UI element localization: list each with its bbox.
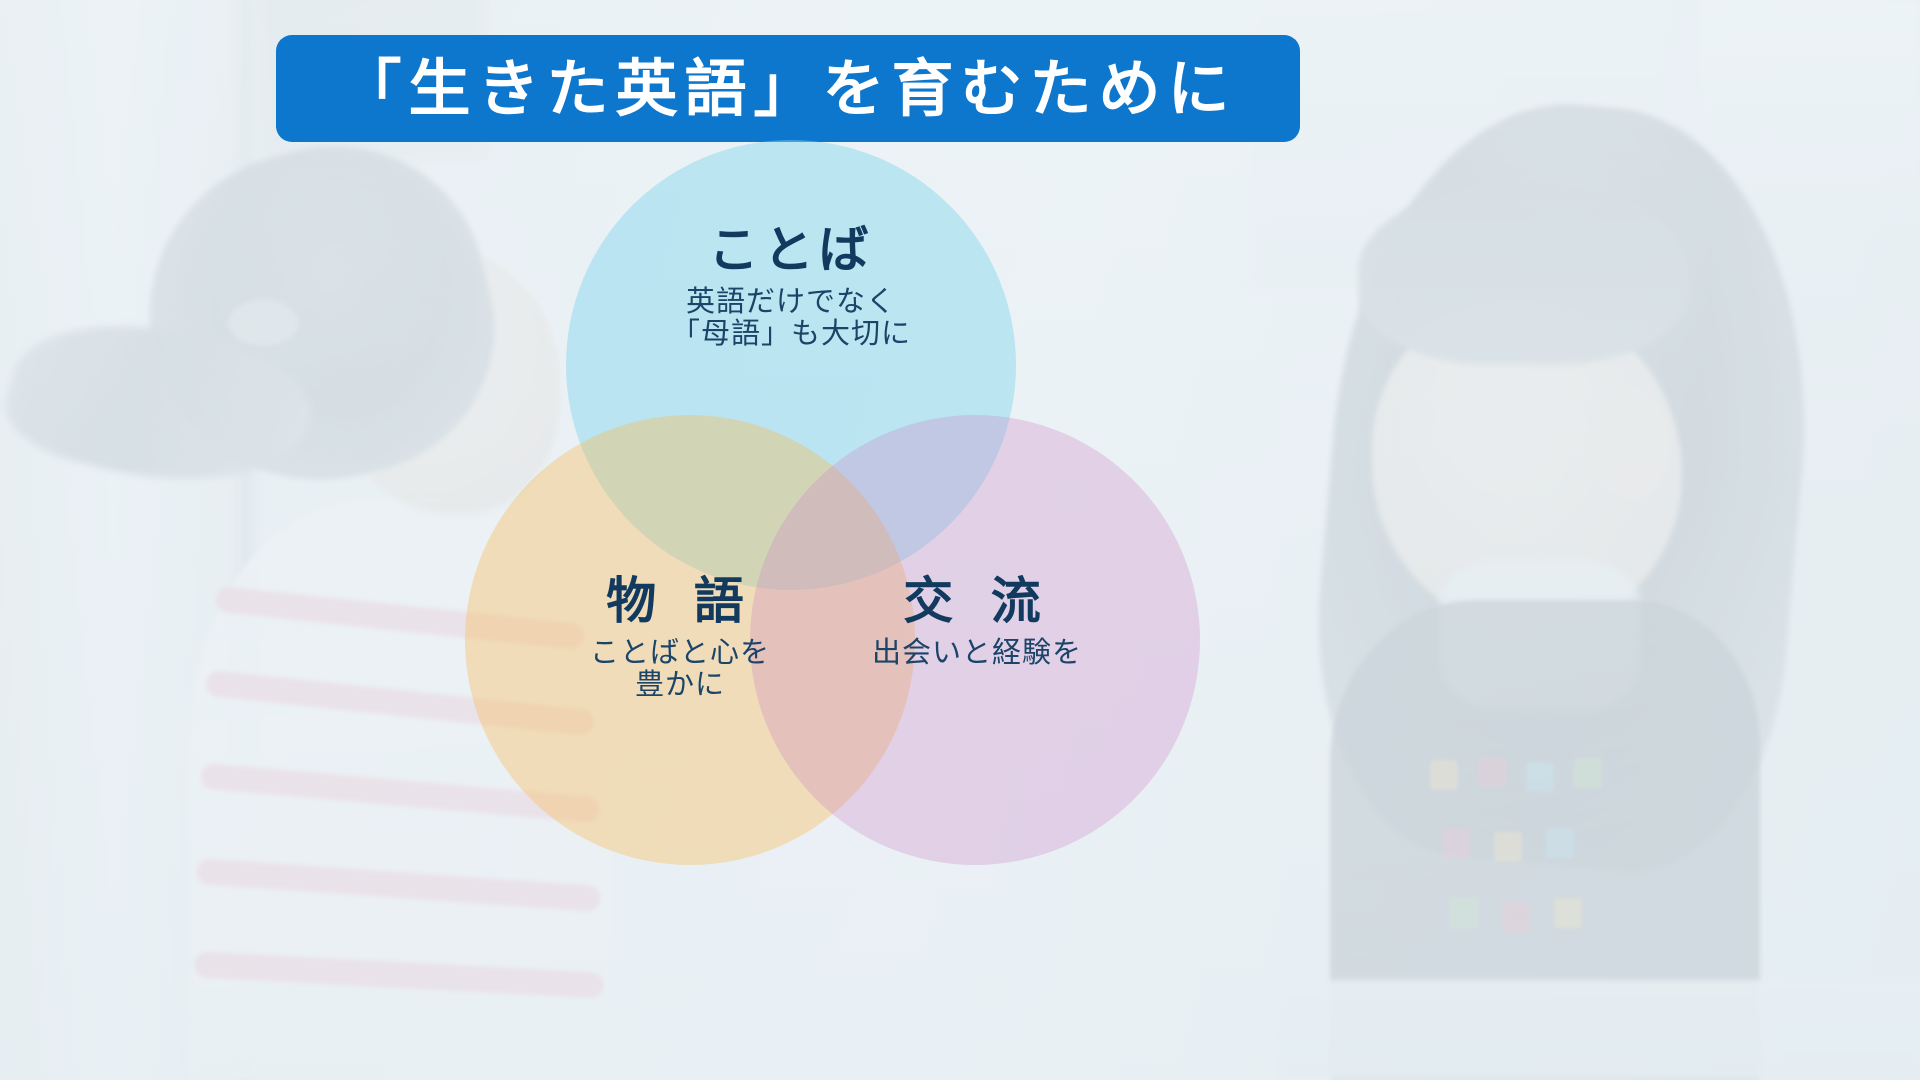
venn-label-kotoba: ことば 英語だけでなく 「母語」も大切に: [566, 222, 1016, 350]
venn-subtitle-line: 「母語」も大切に: [566, 317, 1016, 349]
venn-diagram: ことば 英語だけでなく 「母語」も大切に 物 語 ことばと心を 豊かに 交 流 …: [0, 0, 1920, 1080]
slide-canvas: 「生きた英語」を育むために ことば 英語だけでなく 「母語」も大切に 物 語 こ…: [0, 0, 1920, 1080]
venn-subtitle-line: 豊かに: [455, 668, 905, 700]
venn-subtitle-kotoba: 英語だけでなく 「母語」も大切に: [566, 285, 1016, 350]
venn-heading-kotoba: ことば: [566, 222, 1016, 278]
venn-subtitle-koryu: 出会いと経験を: [752, 636, 1202, 668]
venn-label-koryu: 交 流 出会いと経験を: [752, 573, 1202, 668]
venn-heading-koryu: 交 流: [752, 573, 1202, 629]
venn-subtitle-line: 英語だけでなく: [566, 285, 1016, 317]
venn-subtitle-line: 出会いと経験を: [752, 636, 1202, 668]
